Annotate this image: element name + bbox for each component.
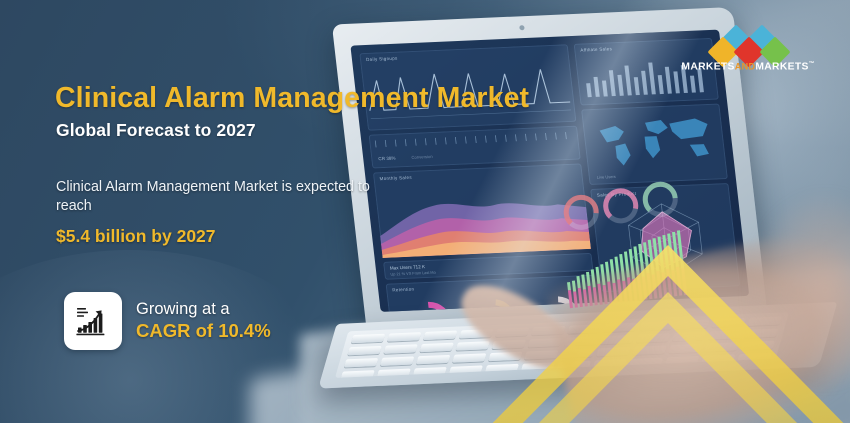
cagr-prefix: Growing at a	[136, 300, 271, 319]
page-title: Clinical Alarm Management Market	[55, 82, 529, 115]
logo-text-and: AND	[735, 61, 756, 71]
hand	[745, 190, 850, 390]
cagr-text: Growing at a CAGR of 10.4%	[136, 300, 271, 341]
growth-chart-icon	[64, 292, 122, 350]
logo-text-part2: MARKETS	[755, 61, 808, 72]
logo-wordmark: MARKETSANDMARKETS™	[672, 61, 824, 72]
lead-text: Clinical Alarm Management Market is expe…	[56, 178, 386, 216]
logo[interactable]: MARKETSANDMARKETS™	[672, 28, 824, 78]
cagr-callout: Growing at a CAGR of 10.4%	[64, 292, 271, 350]
cagr-value: CAGR of 10.4%	[136, 320, 271, 342]
page-subtitle: Global Forecast to 2027	[56, 120, 256, 141]
logo-trademark: ™	[809, 61, 815, 67]
logo-text-part1: MARKETS	[681, 61, 734, 72]
banner: Daily Signups	[0, 0, 850, 423]
market-value-highlight: $5.4 billion by 2027	[56, 226, 216, 247]
growth-chart-glyph	[73, 301, 113, 341]
